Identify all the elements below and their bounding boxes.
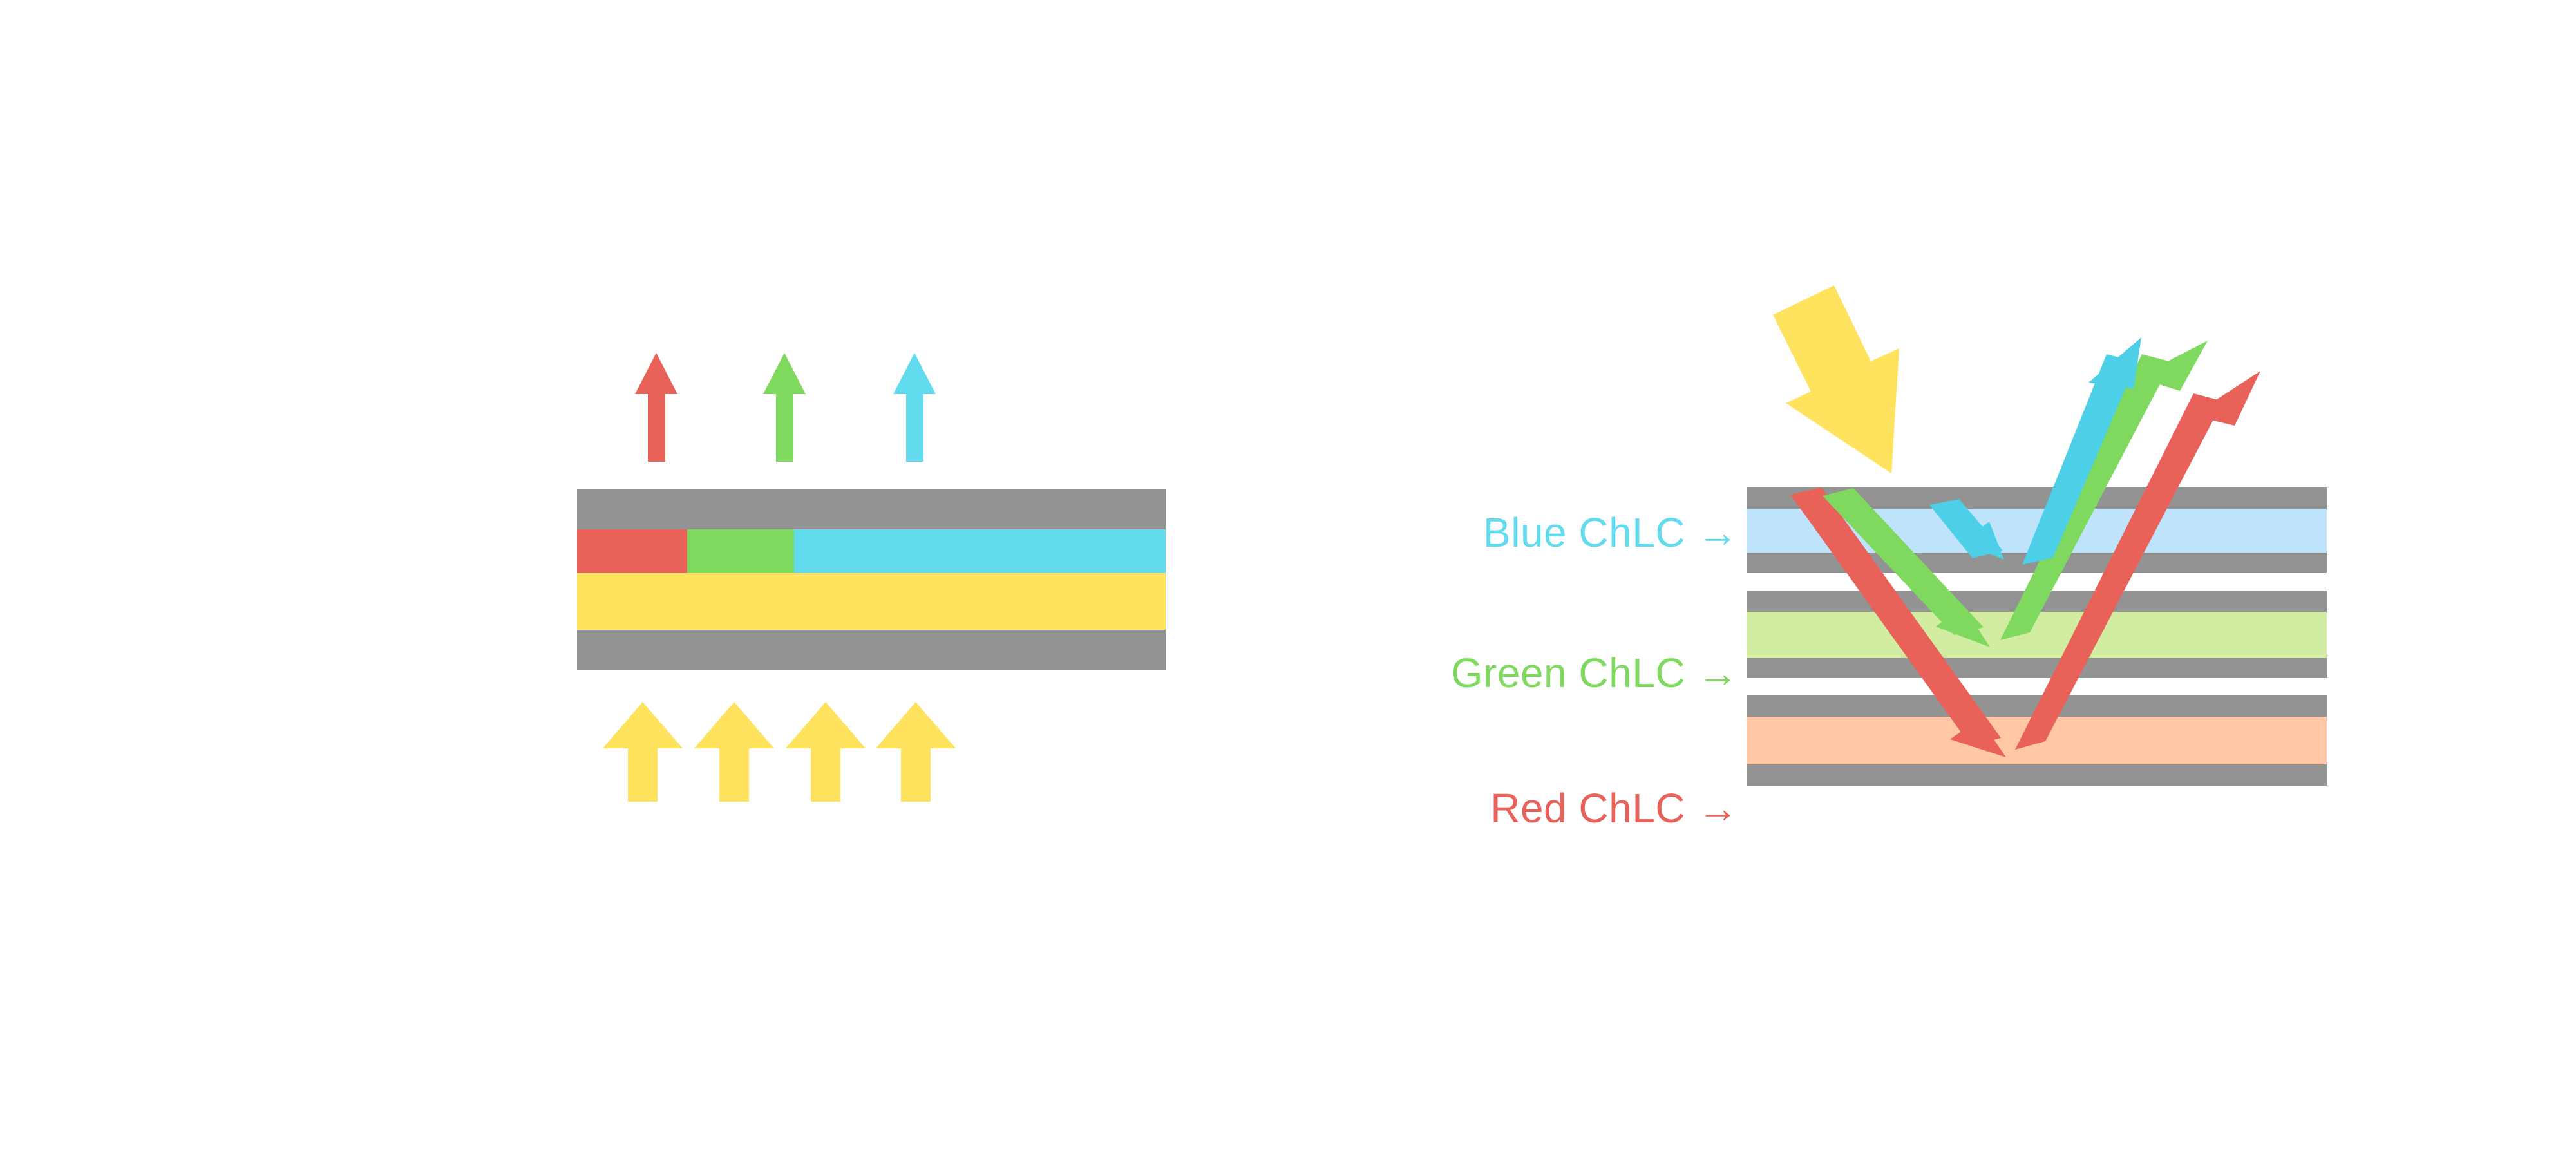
green-chlc-label-arrow-icon: → <box>1689 650 1739 696</box>
red-chlc-label-arrow-icon: → <box>1689 785 1739 831</box>
backlight-rays-group <box>603 702 956 802</box>
red-chlc-label: Red ChLC <box>1490 785 1685 831</box>
color-filter-red-layer <box>577 529 687 573</box>
red-cell-bottom-electrode <box>1747 764 2327 786</box>
emissive-stack-panel <box>577 353 1166 802</box>
backlight-ray-4-arrow <box>876 702 956 802</box>
green-ray-out-arrow <box>763 353 806 462</box>
color-filter-blue-layer <box>794 529 1166 573</box>
color-filter-green-layer <box>687 529 794 573</box>
green-cell-bottom-electrode <box>1747 658 2327 678</box>
top-electrode-layer <box>577 489 1166 529</box>
red-chlc-label-row: Red ChLC → <box>1404 784 1739 832</box>
white-ambient-light-ray-arrow <box>1773 285 1899 473</box>
chlc-stack-panel <box>1747 285 2327 786</box>
chlc-display-diagram <box>0 0 2576 1154</box>
backlight-layer <box>577 573 1166 630</box>
red-ray-out-arrow <box>635 353 677 462</box>
diagram-canvas: Blue ChLC → Green ChLC → Red ChLC → <box>0 0 2576 1154</box>
green-chlc-label: Green ChLC <box>1451 650 1685 696</box>
incident-ray-group <box>1773 285 1899 473</box>
emissive-layer-stack <box>577 489 1166 670</box>
backlight-ray-1-arrow <box>603 702 683 802</box>
blue-ray-up-arrowhead <box>2088 337 2141 389</box>
blue-ray-out-arrow <box>893 353 936 462</box>
blue-chlc-label-arrow-icon: → <box>1689 509 1739 556</box>
blue-chlc-label: Blue ChLC <box>1483 509 1685 556</box>
bottom-electrode-layer <box>577 630 1166 670</box>
blue-chlc-label-row: Blue ChLC → <box>1404 509 1739 556</box>
backlight-ray-2-arrow <box>694 702 774 802</box>
emitted-rays-group <box>635 353 936 462</box>
green-chlc-label-row: Green ChLC → <box>1365 649 1739 697</box>
backlight-ray-3-arrow <box>786 702 866 802</box>
